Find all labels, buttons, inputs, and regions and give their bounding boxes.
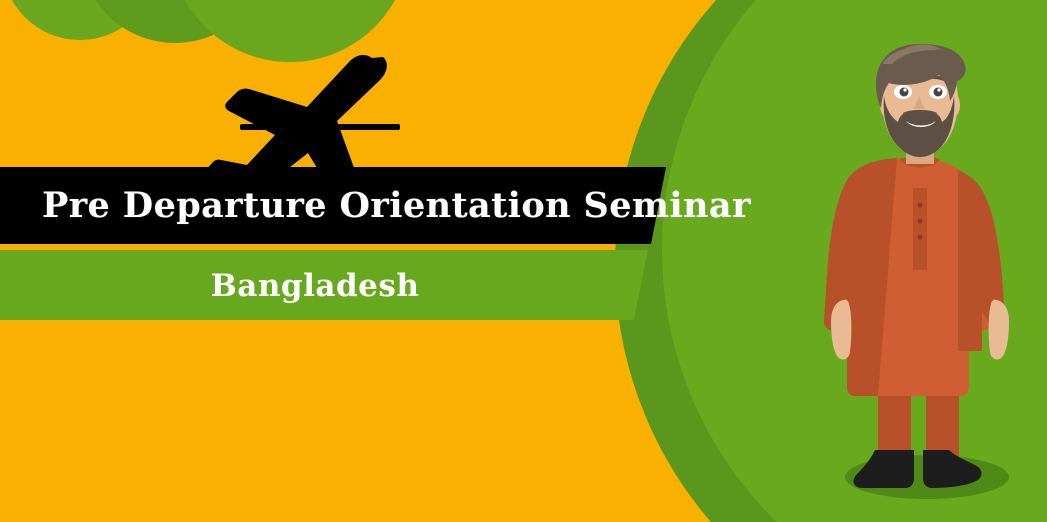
- kurta-placket: [913, 188, 927, 270]
- airplane-wheel-dot: [333, 91, 349, 107]
- runway-line-icon: [240, 124, 400, 130]
- subtitle-green-band: [0, 250, 648, 320]
- pre-departure-seminar-banner: Pre Departure Orientation Seminar Bangla…: [0, 0, 1047, 522]
- banner-background-graphics: [0, 0, 1047, 522]
